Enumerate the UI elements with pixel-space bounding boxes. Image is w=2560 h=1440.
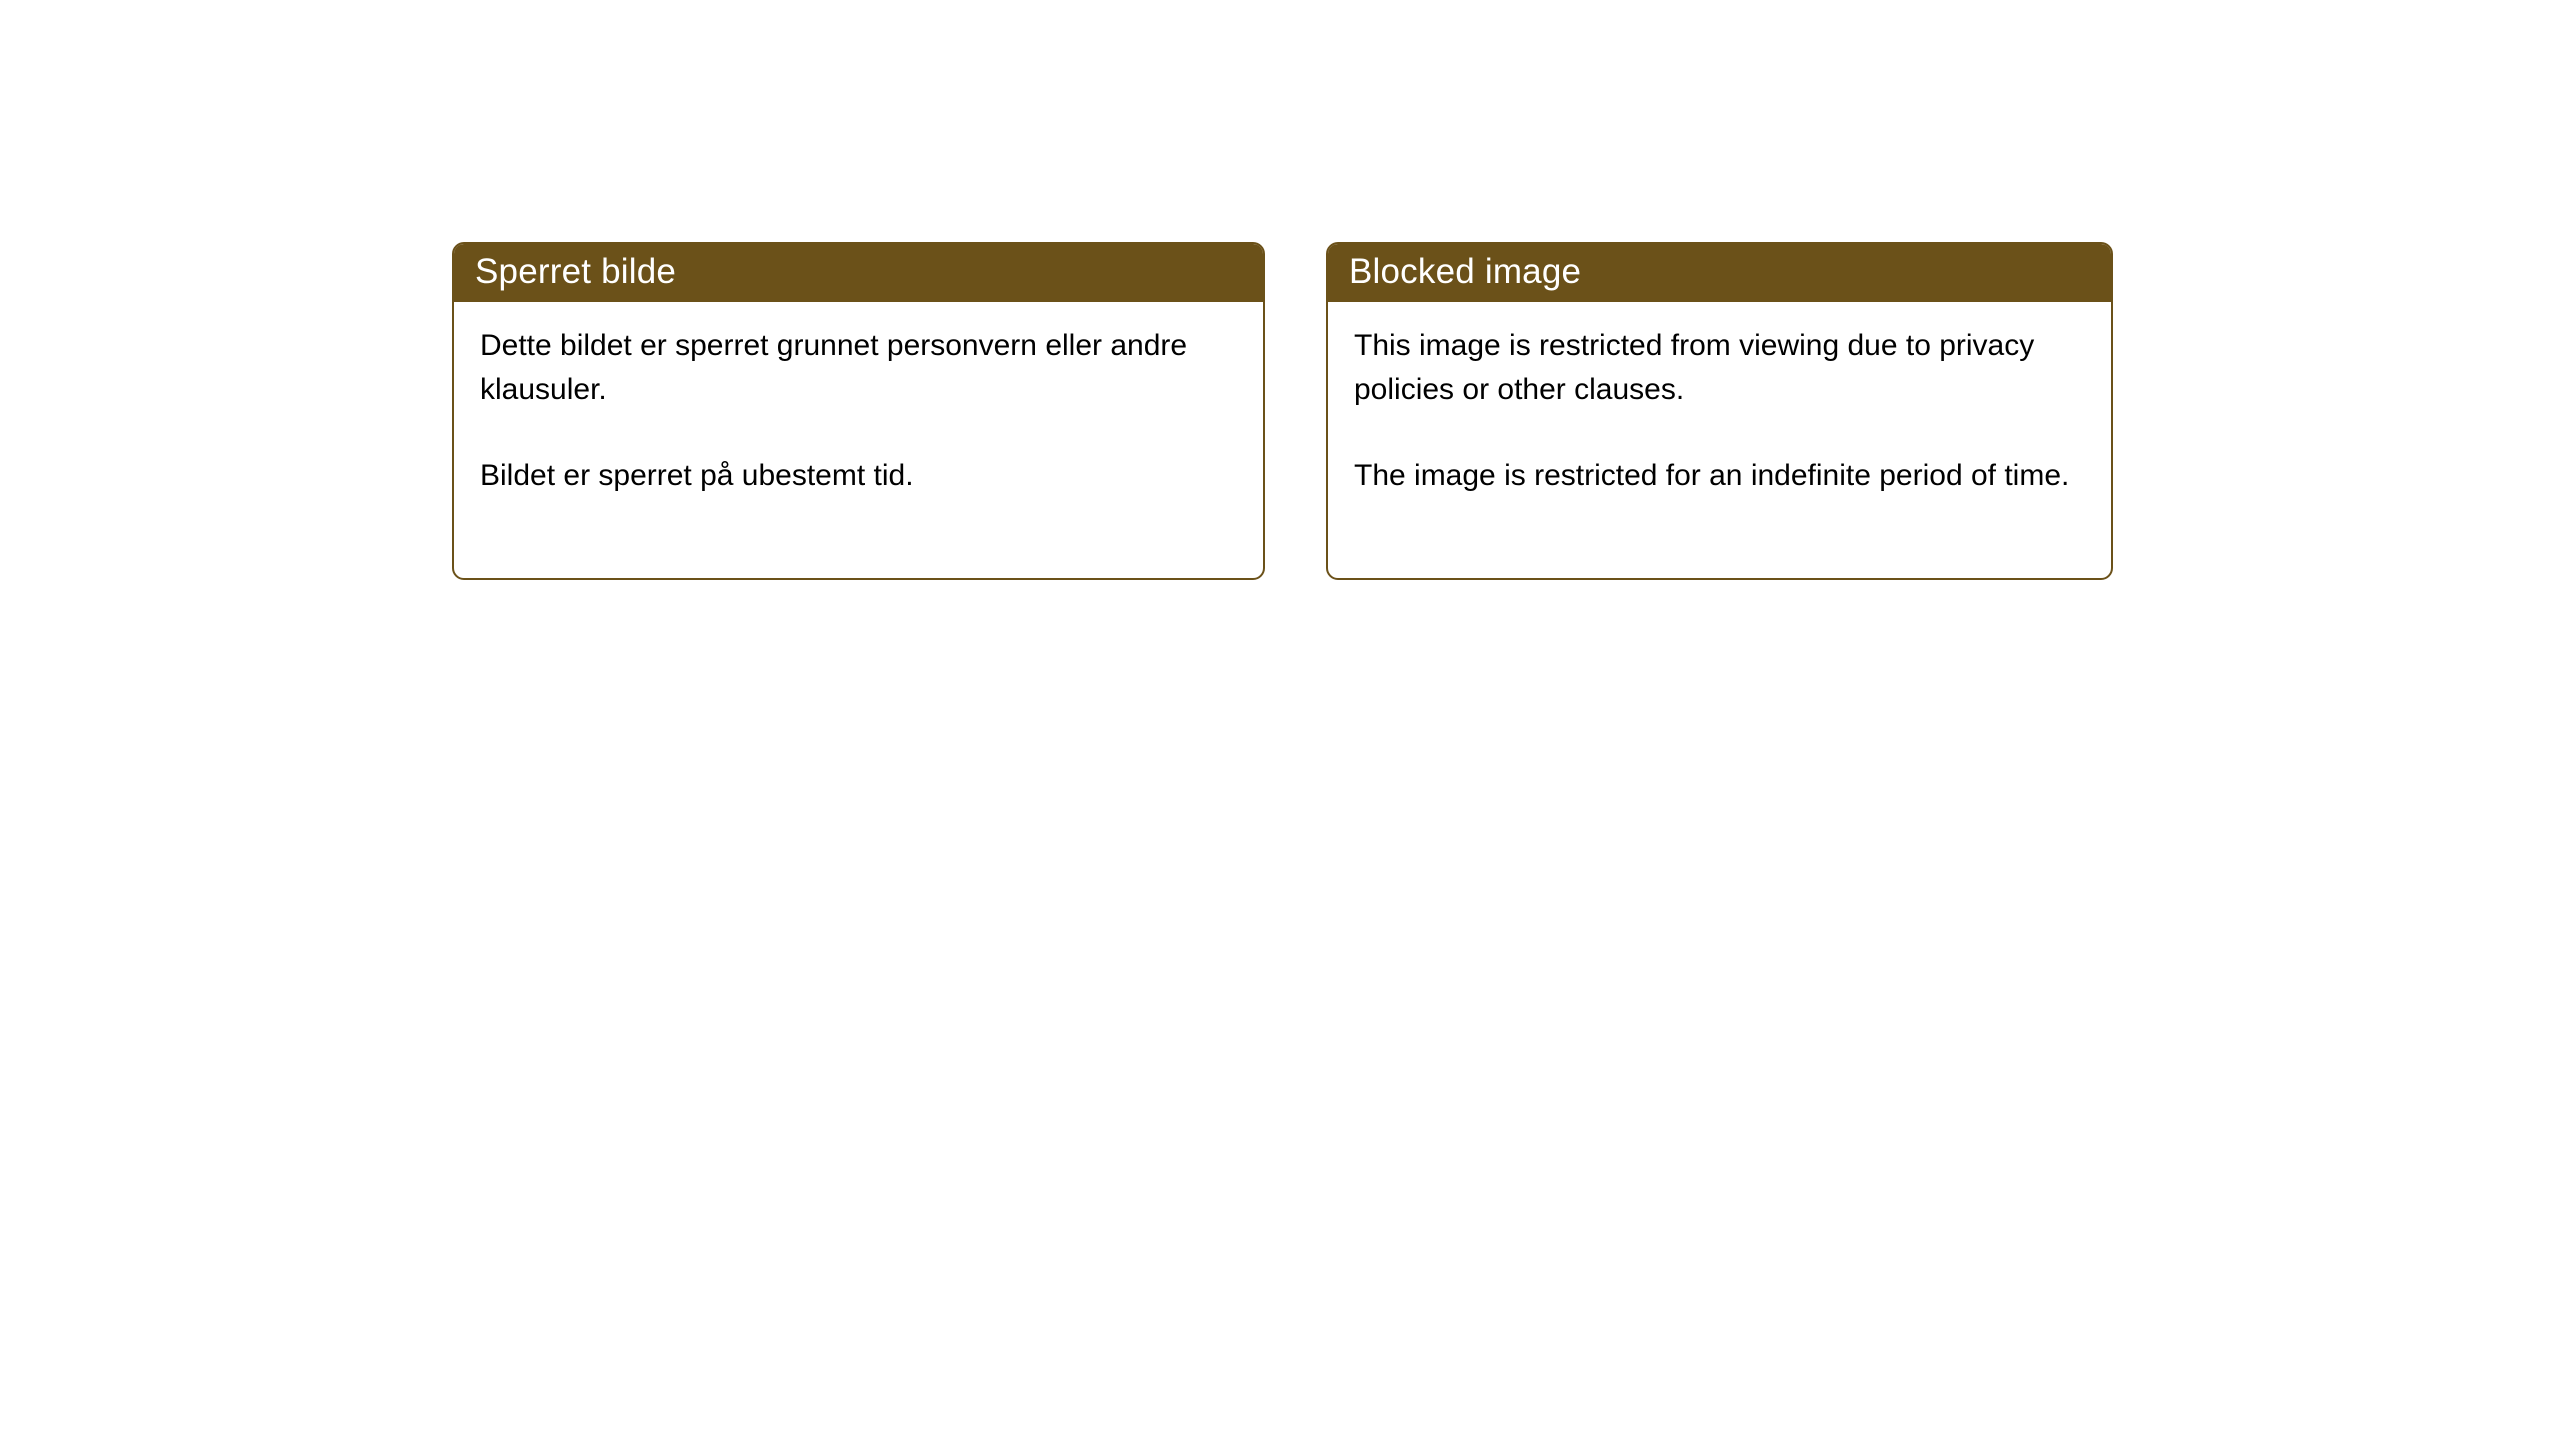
panel-paragraph-reason-english: This image is restricted from viewing du… [1354, 324, 2085, 412]
panel-body-norwegian: Dette bildet er sperret grunnet personve… [454, 302, 1263, 578]
panel-body-english: This image is restricted from viewing du… [1328, 302, 2111, 578]
paragraph-spacer [480, 412, 1237, 454]
blocked-image-panel-english: Blocked image This image is restricted f… [1326, 242, 2113, 580]
panel-title-norwegian: Sperret bilde [475, 252, 676, 292]
panel-title-english: Blocked image [1349, 252, 1581, 292]
panel-header-english: Blocked image [1326, 242, 2113, 302]
panel-paragraph-reason-norwegian: Dette bildet er sperret grunnet personve… [480, 324, 1237, 412]
panel-paragraph-duration-norwegian: Bildet er sperret på ubestemt tid. [480, 454, 1237, 498]
blocked-image-panel-norwegian: Sperret bilde Dette bildet er sperret gr… [452, 242, 1265, 580]
blocked-image-notice-group: Sperret bilde Dette bildet er sperret gr… [452, 242, 2113, 580]
panel-paragraph-duration-english: The image is restricted for an indefinit… [1354, 454, 2085, 498]
panel-header-norwegian: Sperret bilde [452, 242, 1265, 302]
paragraph-spacer [1354, 412, 2085, 454]
